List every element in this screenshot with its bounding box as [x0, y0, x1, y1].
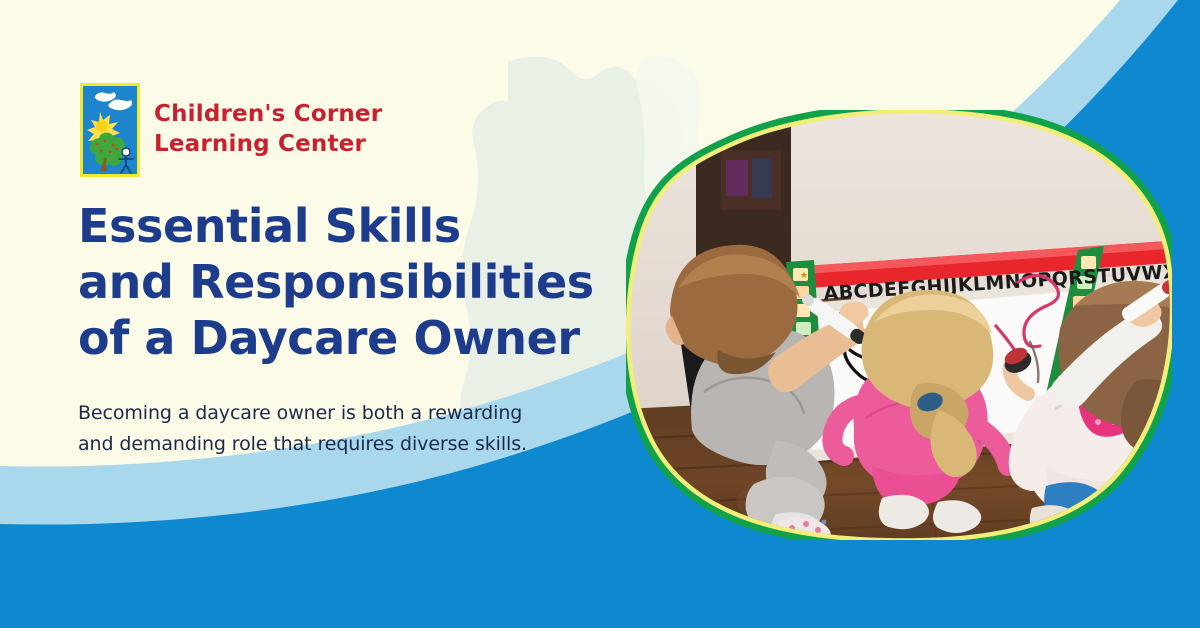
- badge-artwork: [83, 86, 137, 174]
- page-title: Essential Skills and Responsibilities of…: [78, 198, 638, 366]
- logo-badge-icon: [80, 83, 140, 177]
- cloud-icon: [95, 92, 132, 110]
- daycare-promo-banner: Children's Corner Learning Center Essent…: [0, 0, 1200, 628]
- subtitle-line-2: and demanding role that requires diverse…: [78, 429, 578, 460]
- brand-logo[interactable]: Children's Corner Learning Center: [80, 83, 382, 177]
- svg-text:★: ★: [800, 270, 808, 280]
- brand-name-line1: Children's Corner: [154, 101, 382, 127]
- subtitle-line-1: Becoming a daycare owner is both a rewar…: [78, 398, 578, 429]
- headline-line-2: and Responsibilities: [78, 254, 638, 310]
- photo-content: ★ ABCDEFGHIJKLMNOPQRSTUVWXYZ: [626, 110, 1172, 540]
- headline-line-1: Essential Skills: [78, 198, 638, 254]
- headline-line-3: of a Daycare Owner: [78, 310, 638, 366]
- page-subtitle: Becoming a daycare owner is both a rewar…: [78, 398, 578, 460]
- hero-photo: ★ ABCDEFGHIJKLMNOPQRSTUVWXYZ: [626, 110, 1172, 540]
- brand-name-line2: Learning Center: [154, 130, 382, 160]
- hero-photo-artwork: ★ ABCDEFGHIJKLMNOPQRSTUVWXYZ: [626, 110, 1172, 540]
- brand-name: Children's Corner Learning Center: [154, 100, 382, 159]
